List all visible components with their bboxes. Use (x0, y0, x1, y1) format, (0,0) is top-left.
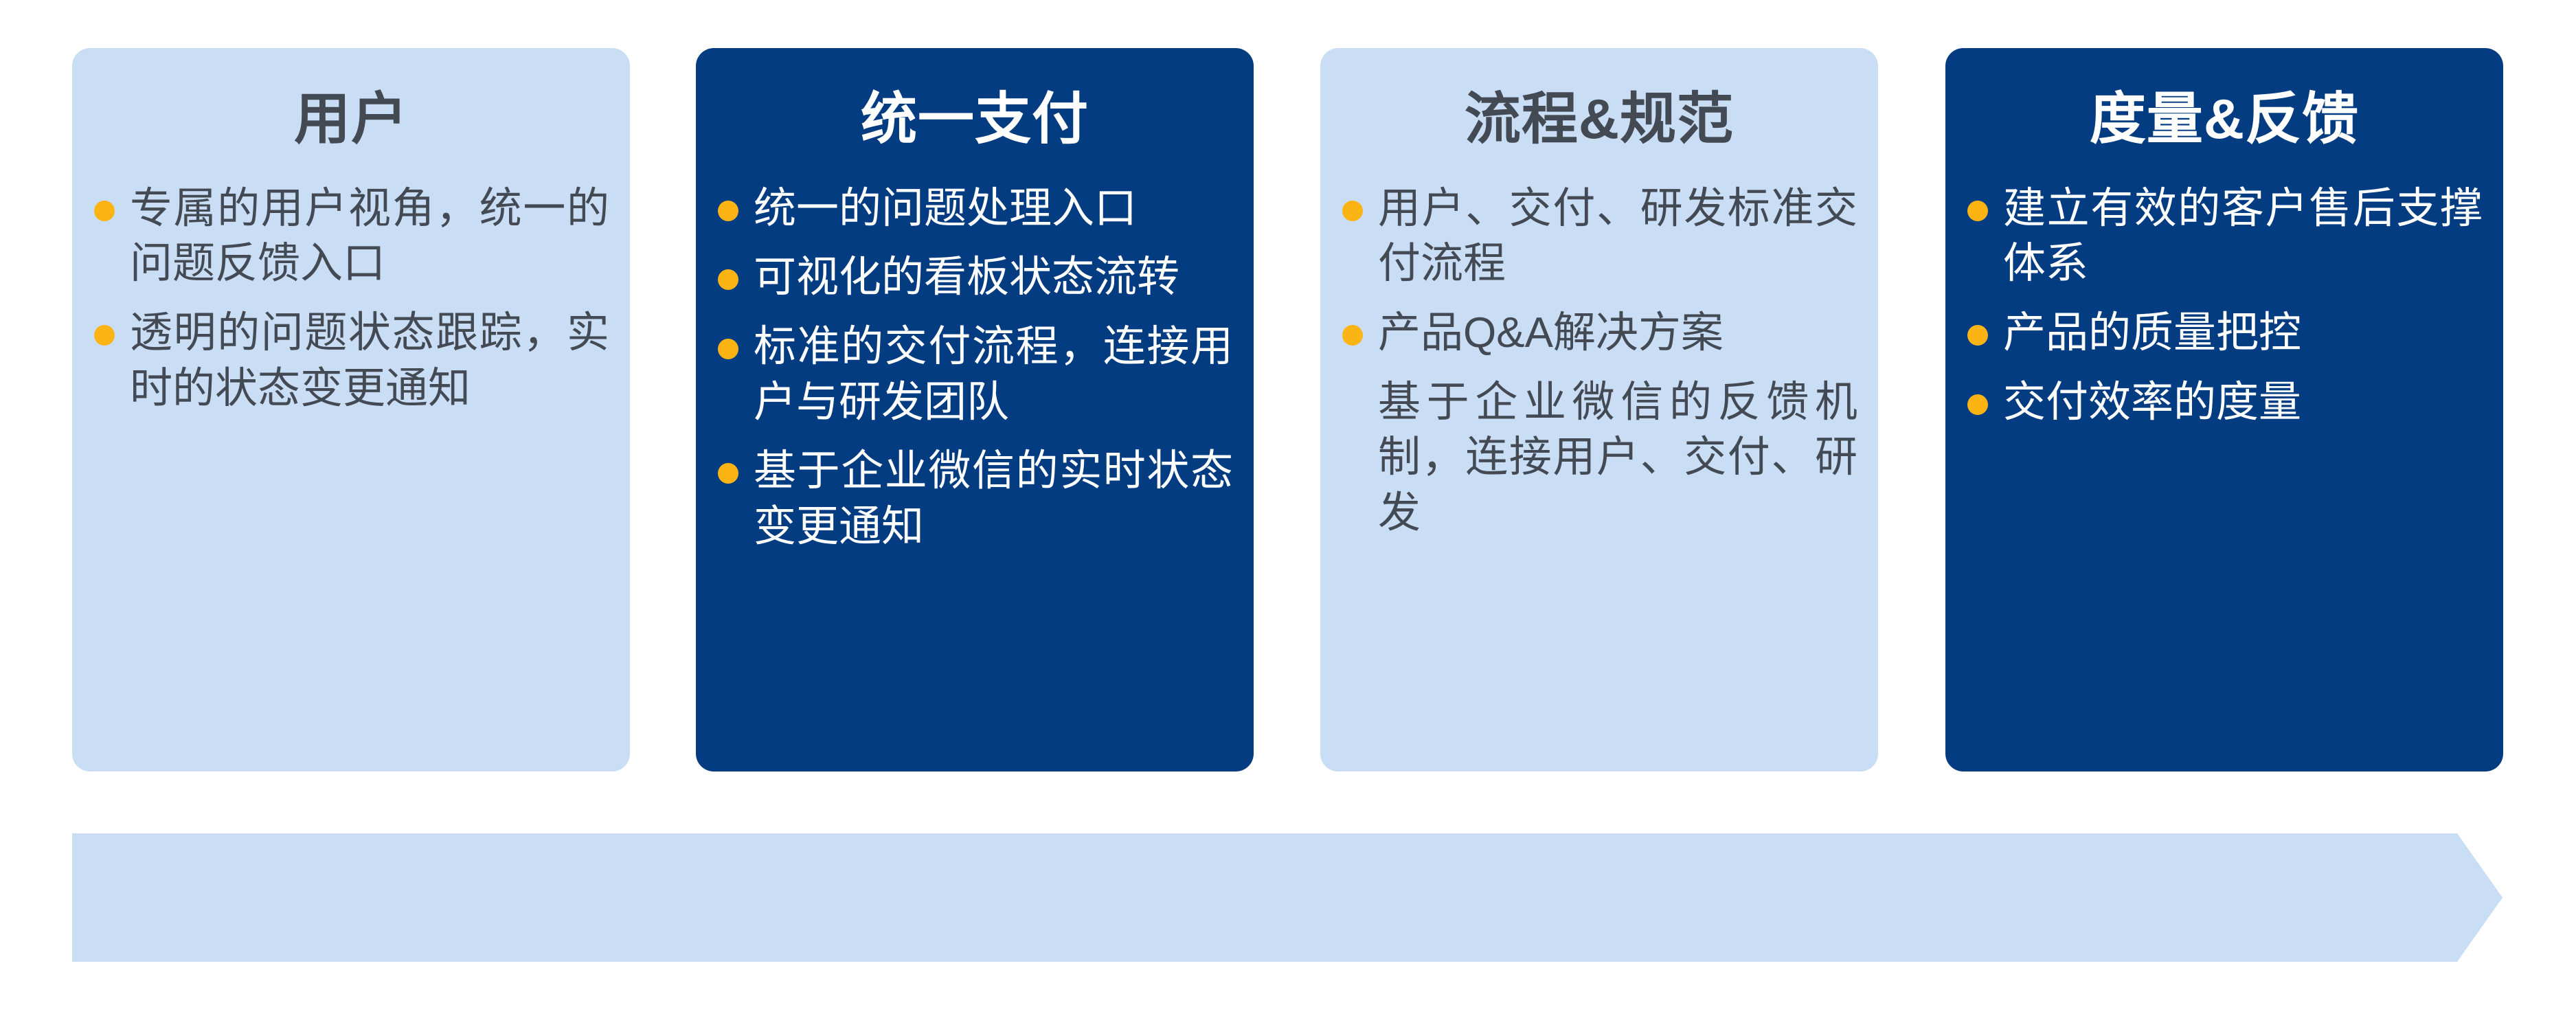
list-item-label: 统一的问题处理入口 (754, 181, 1233, 237)
list-item: 标准的交付流程，连接用户与研发团队 (716, 319, 1233, 430)
card-unified-payment[interactable]: 统一支付 统一的问题处理入口 可视化的看板状态流转 标准的交付流程，连接用户与研… (696, 48, 1254, 771)
slide-canvas: 用户 专属的用户视角，统一的问题反馈入口 透明的问题状态跟踪，实时的状态变更通知… (0, 0, 2576, 1014)
bullet-dot-icon (1967, 201, 1988, 221)
list-item-label: 建立有效的客户售后支撑体系 (2003, 181, 2483, 292)
list-item-continuation: 基于企业微信的反馈机制，连接用户、交付、研发 (1341, 375, 1857, 541)
list-item-label: 专属的用户视角，统一的问题反馈入口 (130, 181, 609, 292)
list-item-label: 产品的质量把控 (2003, 306, 2483, 361)
list-item: 专属的用户视角，统一的问题反馈入口 (93, 181, 609, 292)
bullet-dot-icon (1342, 325, 1363, 346)
bullet-dot-icon (718, 339, 738, 359)
list-item-label: 基于企业微信的实时状态变更通知 (754, 444, 1233, 554)
bullet-list: 专属的用户视角，统一的问题反馈入口 透明的问题状态跟踪，实时的状态变更通知 (93, 181, 609, 416)
list-item-label: 标准的交付流程，连接用户与研发团队 (754, 319, 1233, 430)
card-process-standards[interactable]: 流程&规范 用户、交付、研发标准交付流程 产品Q&A解决方案 基于企业微信的反馈… (1320, 48, 1878, 771)
right-arrow-icon (72, 833, 2502, 962)
card-title: 度量&反馈 (1966, 88, 2483, 151)
list-item: 产品的质量把控 (1966, 306, 2483, 361)
bullet-list: 统一的问题处理入口 可视化的看板状态流转 标准的交付流程，连接用户与研发团队 基… (716, 181, 1233, 555)
bullet-dot-icon (718, 269, 738, 290)
list-item: 基于企业微信的实时状态变更通知 (716, 444, 1233, 554)
list-item: 统一的问题处理入口 (716, 181, 1233, 237)
list-item-label: 交付效率的度量 (2003, 375, 2483, 431)
bullet-dot-icon (94, 201, 115, 221)
card-title: 流程&规范 (1341, 88, 1857, 151)
bullet-dot-icon (1967, 394, 1988, 415)
list-item: 建立有效的客户售后支撑体系 (1966, 181, 2483, 292)
bullet-list: 用户、交付、研发标准交付流程 产品Q&A解决方案 基于企业微信的反馈机制，连接用… (1341, 181, 1857, 541)
bullet-dot-icon (1967, 325, 1988, 346)
list-item-label: 透明的问题状态跟踪，实时的状态变更通知 (130, 306, 609, 416)
bullet-dot-icon (94, 325, 115, 346)
card-metrics-feedback[interactable]: 度量&反馈 建立有效的客户售后支撑体系 产品的质量把控 交付效率的度量 (1945, 48, 2503, 771)
list-item: 透明的问题状态跟踪，实时的状态变更通知 (93, 306, 609, 416)
card-user[interactable]: 用户 专属的用户视角，统一的问题反馈入口 透明的问题状态跟踪，实时的状态变更通知 (72, 48, 630, 771)
list-item-label: 用户、交付、研发标准交付流程 (1378, 181, 1857, 292)
list-item-label: 产品Q&A解决方案 (1378, 306, 1857, 361)
list-item: 可视化的看板状态流转 (716, 250, 1233, 306)
list-item-label: 可视化的看板状态流转 (754, 250, 1233, 306)
bullet-dot-icon (718, 463, 738, 484)
card-title: 用户 (93, 88, 609, 151)
list-item: 交付效率的度量 (1966, 375, 2483, 431)
bullet-list: 建立有效的客户售后支撑体系 产品的质量把控 交付效率的度量 (1966, 181, 2483, 430)
list-item: 产品Q&A解决方案 (1341, 306, 1857, 361)
bullet-dot-icon (1342, 201, 1363, 221)
bullet-dot-icon (718, 201, 738, 221)
card-title: 统一支付 (716, 88, 1233, 151)
progress-arrow (72, 833, 2502, 962)
list-item: 用户、交付、研发标准交付流程 (1341, 181, 1857, 292)
